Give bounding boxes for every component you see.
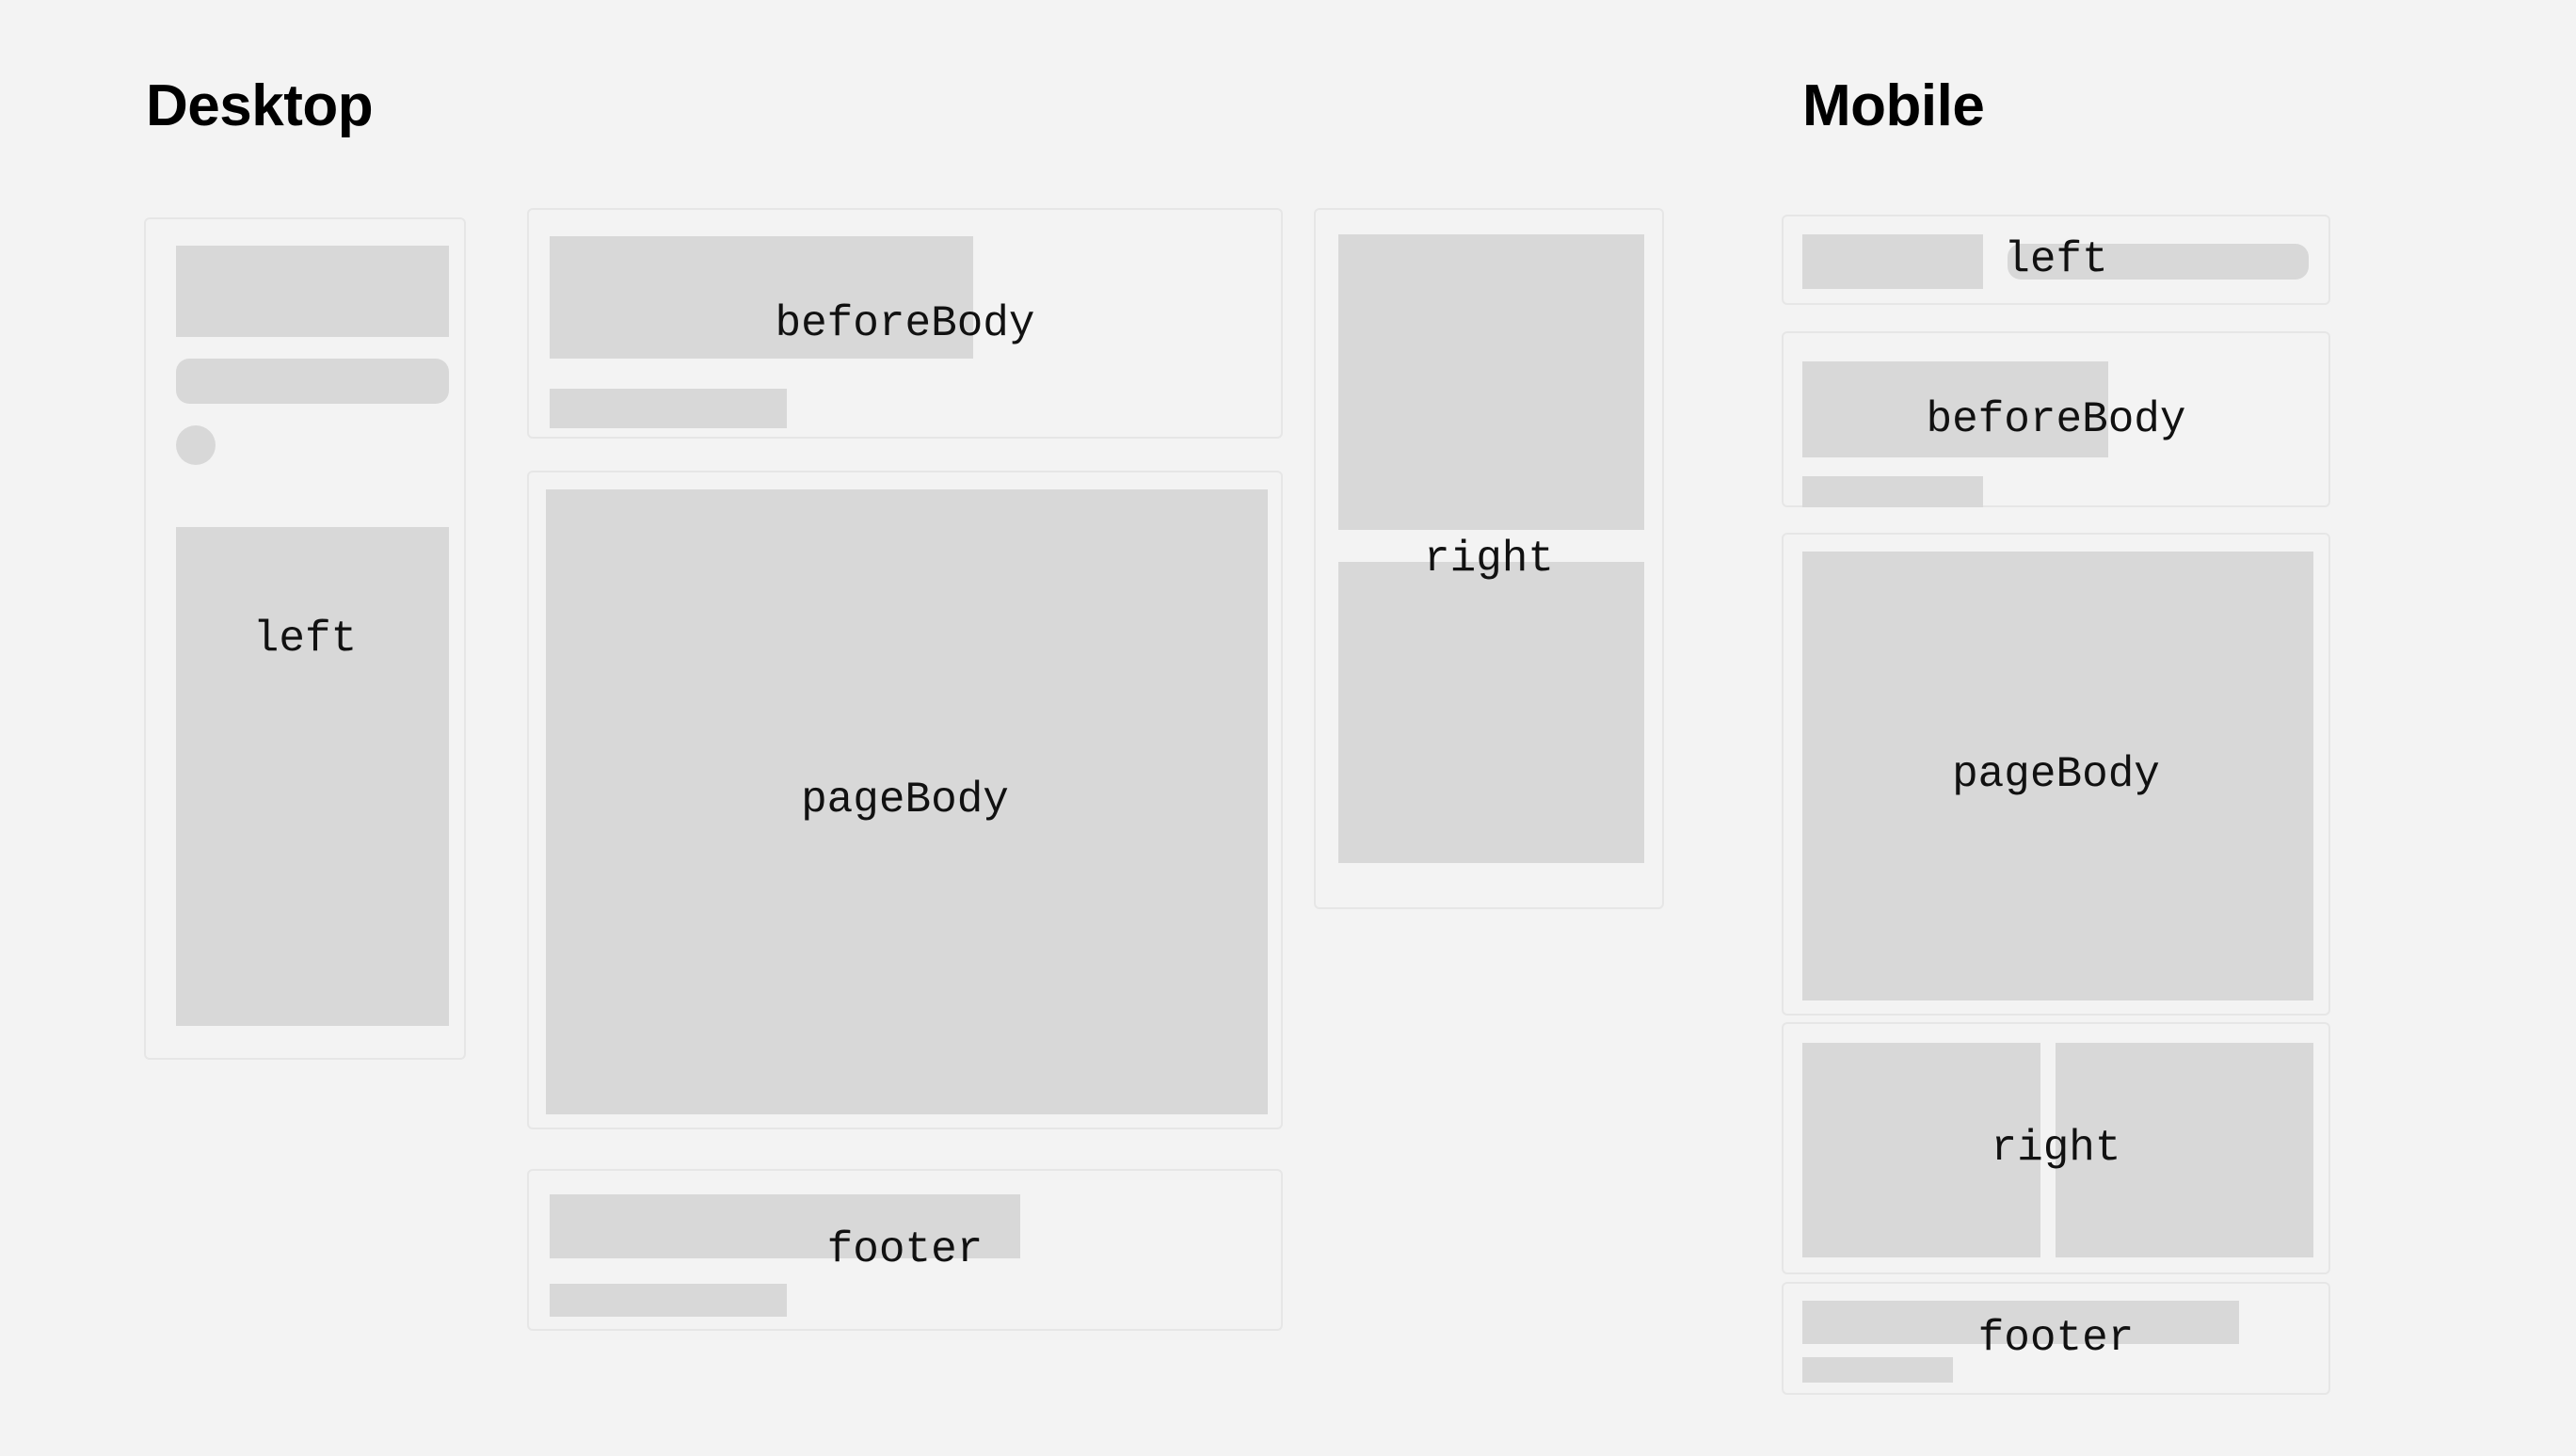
mobile-page-body-panel[interactable] [1782,533,2330,1016]
desktop-before-body-panel[interactable] [527,208,1283,439]
mobile-footer-panel[interactable] [1782,1282,2330,1395]
placeholder-block-bottom [1338,562,1644,863]
placeholder-block-top [1338,234,1644,530]
placeholder-block-tall [176,527,449,1026]
placeholder-block-left [1802,1043,2040,1257]
placeholder-block-small [550,1284,787,1317]
placeholder-block-right [2056,1043,2313,1257]
placeholder-pill [2008,244,2309,280]
mobile-section-heading: Mobile [1802,77,1984,136]
mobile-left-panel[interactable] [1782,215,2330,305]
mobile-before-body-panel[interactable] [1782,331,2330,507]
placeholder-block [1802,1301,2239,1344]
placeholder-block [550,1194,1020,1258]
placeholder-block [1802,361,2108,457]
placeholder-block [1802,234,1983,289]
desktop-footer-panel[interactable] [527,1169,1283,1331]
desktop-right-panel[interactable] [1314,208,1664,909]
placeholder-block-large [546,489,1268,1114]
desktop-section-heading: Desktop [146,77,373,136]
placeholder-block-small [550,389,787,428]
placeholder-block-small [1802,476,1983,507]
placeholder-block-small [1802,1357,1953,1383]
wireframe-canvas: Desktop left beforeBody pageBody footer … [0,0,2576,1456]
placeholder-circle [2266,248,2295,277]
placeholder-block-large [1802,552,2313,1000]
placeholder-circle [176,425,216,465]
placeholder-block [176,246,449,337]
placeholder-block [550,236,973,359]
mobile-right-panel[interactable] [1782,1022,2330,1274]
placeholder-pill [176,359,449,404]
desktop-left-panel[interactable] [144,217,466,1060]
desktop-page-body-panel[interactable] [527,471,1283,1129]
